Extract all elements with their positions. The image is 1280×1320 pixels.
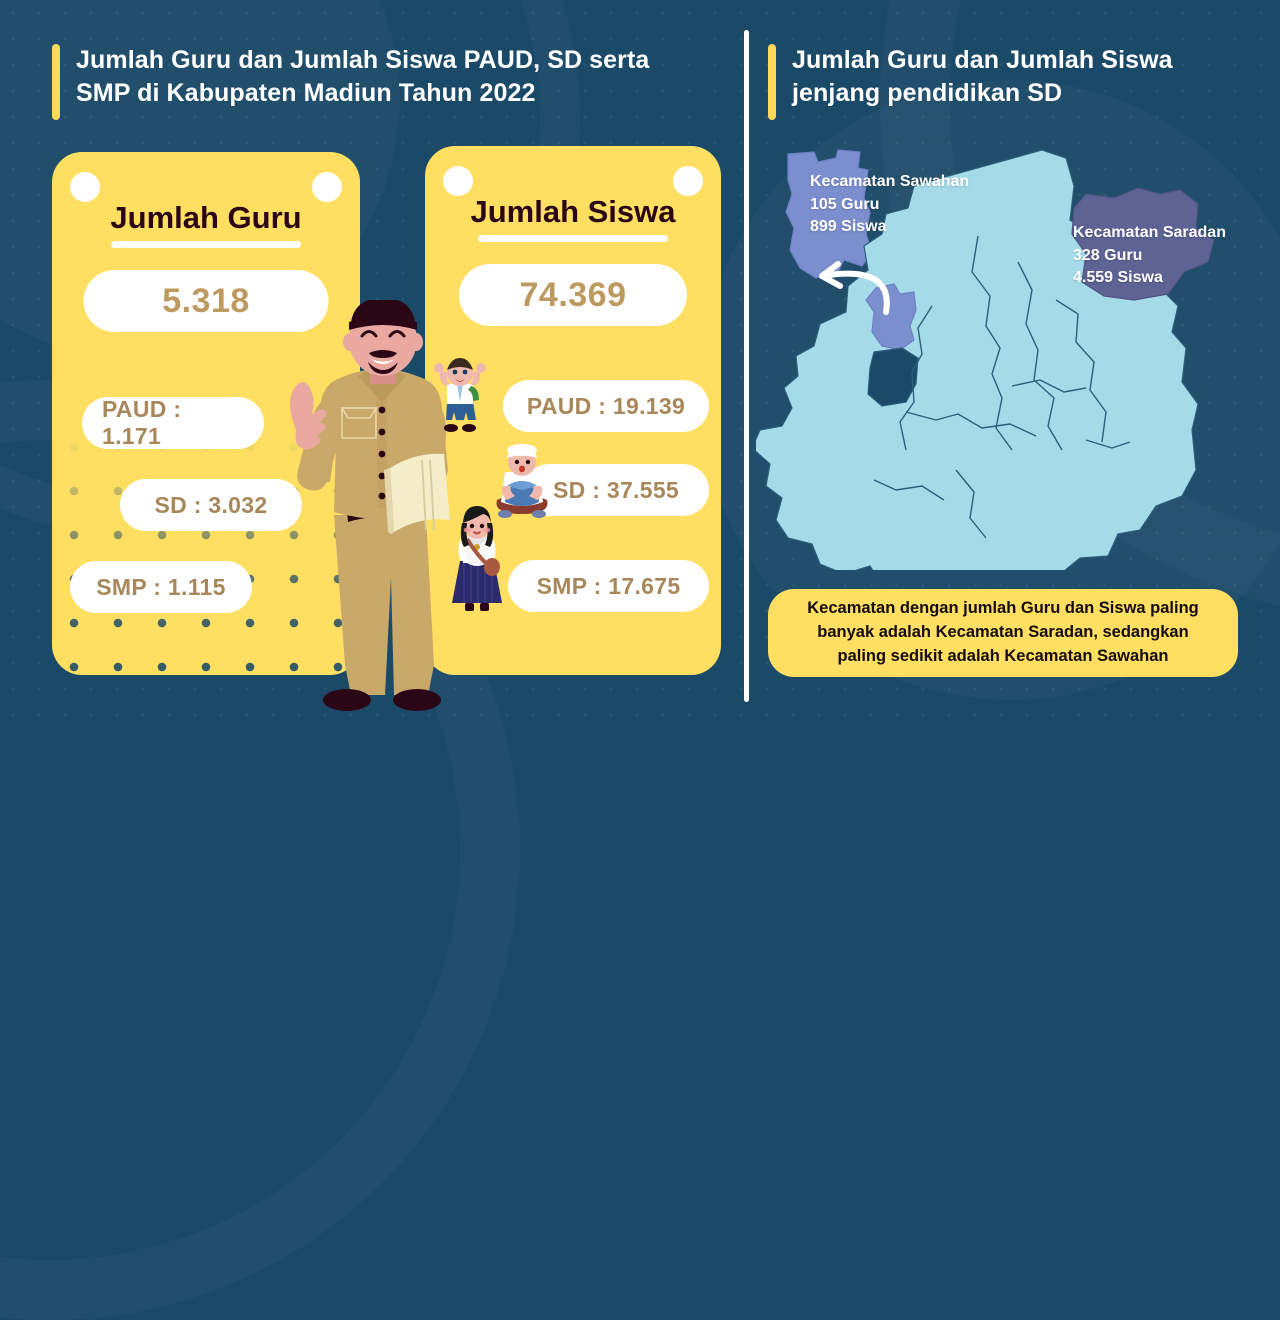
right-title-text: Jumlah Guru dan Jumlah Siswa jenjang pen… <box>792 44 1173 110</box>
total-siswa-value: 74.369 <box>459 264 687 326</box>
guru-paud-pill: PAUD : 1.171 <box>82 397 264 449</box>
left-title-text: Jumlah Guru dan Jumlah Siswa PAUD, SD se… <box>76 44 649 110</box>
right-panel-title: Jumlah Guru dan Jumlah Siswa jenjang pen… <box>768 44 1238 120</box>
student-smp-illustration <box>447 505 507 617</box>
siswa-smp-pill: SMP : 17.675 <box>508 560 709 612</box>
card-punch-hole-right <box>312 172 342 202</box>
panel-divider <box>744 30 749 702</box>
left-panel-title: Jumlah Guru dan Jumlah Siswa PAUD, SD se… <box>52 44 712 120</box>
title-accent-bar-left <box>52 44 60 120</box>
card-heading-underline <box>478 235 668 242</box>
siswa-paud-pill: PAUD : 19.139 <box>503 380 709 432</box>
card-heading-siswa: Jumlah Siswa <box>425 194 721 230</box>
title-accent-bar-right <box>768 44 776 120</box>
card-punch-hole-right <box>673 166 703 196</box>
map-label-sawahan: Kecamatan Sawahan 105 Guru 899 Siswa <box>810 171 969 239</box>
card-punch-hole-left <box>70 172 100 202</box>
map-caption-box: Kecamatan dengan jumlah Guru dan Siswa p… <box>768 589 1238 677</box>
map-label-saradan: Kecamatan Saradan 328 Guru 4.559 Siswa <box>1073 222 1226 290</box>
student-paud-illustration <box>429 358 491 434</box>
card-heading-guru: Jumlah Guru <box>52 200 360 236</box>
card-punch-hole-left <box>443 166 473 196</box>
guru-smp-pill: SMP : 1.115 <box>70 561 252 613</box>
card-heading-underline <box>111 241 301 248</box>
